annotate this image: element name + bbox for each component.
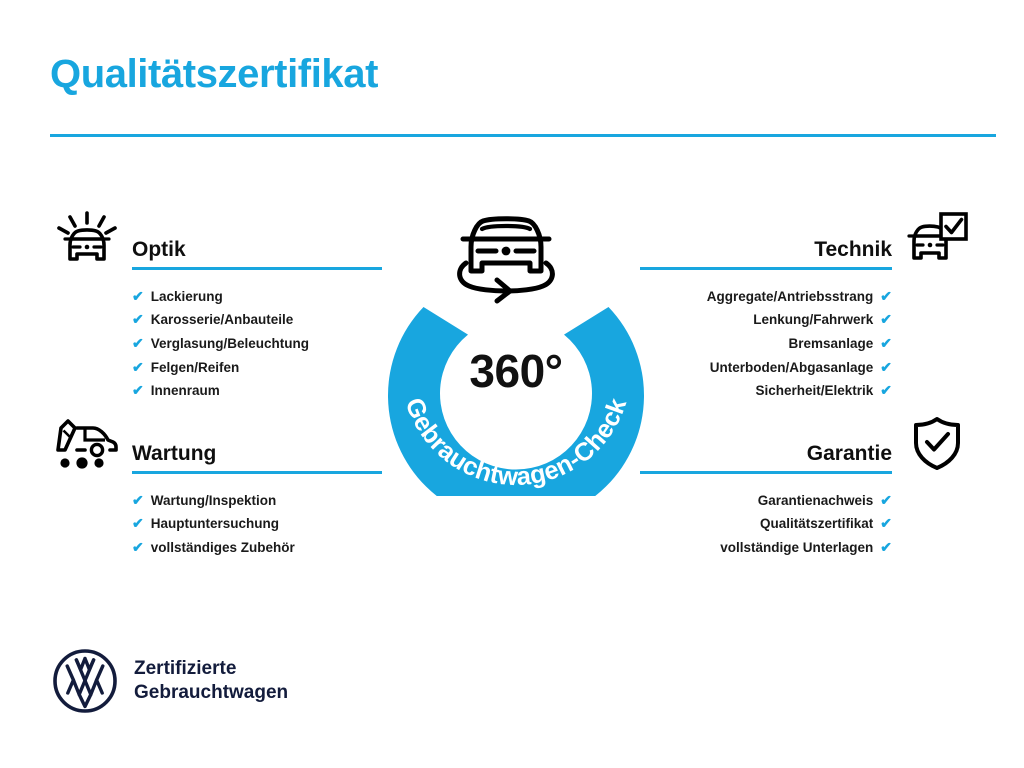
section-garantie-underline [640,471,892,474]
list-item: ✔ Lackierung [132,284,382,308]
section-technik-underline [640,267,892,270]
shield-check-icon [900,412,974,474]
section-optik-header: Optik [50,208,382,270]
badge-value: 360° [370,344,662,398]
list-item-label: Lackierung [151,290,223,304]
brand-line-2: Gebrauchtwagen [134,681,288,705]
check-icon: ✔ [880,360,892,374]
list-item-label: Karosserie/Anbauteile [151,313,294,327]
list-item: Qualitätszertifikat ✔ [640,512,892,536]
vw-logo [52,648,118,714]
car-rotate-icon [460,219,553,301]
list-item: Aggregate/Antriebsstrang ✔ [640,284,892,308]
check-icon: ✔ [132,540,144,554]
section-garantie-list: Garantienachweis ✔ Qualitätszertifikat ✔… [640,474,974,559]
check-icon: ✔ [132,383,144,397]
list-item-label: Felgen/Reifen [151,361,240,375]
check-icon: ✔ [880,540,892,554]
check-icon: ✔ [132,336,144,350]
section-wartung-list: ✔ Wartung/Inspektion ✔ Hauptuntersuchung… [50,474,382,559]
section-optik-title-wrap: Optik [132,239,382,270]
page-title: Qualitätszertifikat [50,52,378,96]
list-item-label: Aggregate/Antriebsstrang [707,290,874,304]
list-item: Garantienachweis ✔ [640,488,892,512]
section-optik: Optik ✔ Lackierung ✔ Karosserie/Anbautei… [50,208,382,402]
car-checkbox-icon [900,208,974,270]
check-icon: ✔ [132,516,144,530]
check-icon: ✔ [880,289,892,303]
check-icon: ✔ [880,493,892,507]
check-icon: ✔ [880,312,892,326]
section-wartung-title: Wartung [132,443,382,471]
check-icon: ✔ [132,493,144,507]
section-technik-header: Technik [640,208,974,270]
list-item-label: Bremsanlage [788,337,873,351]
list-item: Sicherheit/Elektrik ✔ [640,379,892,403]
section-optik-list: ✔ Lackierung ✔ Karosserie/Anbauteile ✔ V… [50,270,382,402]
car-shine-icon [50,208,124,270]
section-wartung-underline [132,471,382,474]
section-technik-title: Technik [640,239,892,267]
list-item: Lenkung/Fahrwerk ✔ [640,308,892,332]
list-item: ✔ Hauptuntersuchung [132,512,382,536]
section-wartung: Wartung ✔ Wartung/Inspektion ✔ Hauptunte… [50,412,382,559]
list-item: ✔ Wartung/Inspektion [132,488,382,512]
brand-lockup: Zertifizierte Gebrauchtwagen [52,648,288,714]
section-garantie-header: Garantie [640,412,974,474]
brand-text: Zertifizierte Gebrauchtwagen [134,657,288,706]
car-service-pencil-icon [50,412,124,474]
list-item-label: Hauptuntersuchung [151,517,279,531]
list-item: ✔ Verglasung/Beleuchtung [132,331,382,355]
section-technik-title-wrap: Technik [640,239,892,270]
list-item: vollständige Unterlagen ✔ [640,535,892,559]
list-item-label: Wartung/Inspektion [151,494,277,508]
list-item: Unterboden/Abgasanlage ✔ [640,355,892,379]
360-check-badge: Gebrauchtwagen-Check 360° [370,196,662,496]
section-technik-list: Aggregate/Antriebsstrang ✔ Lenkung/Fahrw… [640,270,974,402]
list-item: ✔ Felgen/Reifen [132,355,382,379]
brand-line-1: Zertifizierte [134,657,288,681]
list-item-label: Qualitätszertifikat [760,517,873,531]
section-garantie: Garantie Garantienachweis ✔ Qualitätszer… [640,412,974,559]
list-item: ✔ Innenraum [132,379,382,403]
section-wartung-title-wrap: Wartung [132,443,382,474]
list-item-label: Unterboden/Abgasanlage [710,361,874,375]
list-item: ✔ Karosserie/Anbauteile [132,308,382,332]
check-icon: ✔ [880,336,892,350]
list-item-label: Verglasung/Beleuchtung [151,337,309,351]
list-item-label: Lenkung/Fahrwerk [753,313,873,327]
section-garantie-title: Garantie [640,443,892,471]
section-optik-underline [132,267,382,270]
section-garantie-title-wrap: Garantie [640,443,892,474]
check-icon: ✔ [132,312,144,326]
list-item: ✔ vollständiges Zubehör [132,535,382,559]
list-item: Bremsanlage ✔ [640,331,892,355]
list-item-label: Garantienachweis [758,494,874,508]
list-item-label: vollständiges Zubehör [151,541,295,555]
section-wartung-header: Wartung [50,412,382,474]
list-item-label: Sicherheit/Elektrik [755,384,873,398]
check-icon: ✔ [132,360,144,374]
section-technik: Technik Aggregate/Antriebsstrang ✔ Lenku… [640,208,974,402]
list-item-label: vollständige Unterlagen [720,541,873,555]
certificate-page: Qualitätszertifikat [0,0,1024,768]
check-icon: ✔ [132,289,144,303]
check-icon: ✔ [880,516,892,530]
section-optik-title: Optik [132,239,382,267]
list-item-label: Innenraum [151,384,220,398]
header-divider [50,134,996,137]
check-icon: ✔ [880,383,892,397]
